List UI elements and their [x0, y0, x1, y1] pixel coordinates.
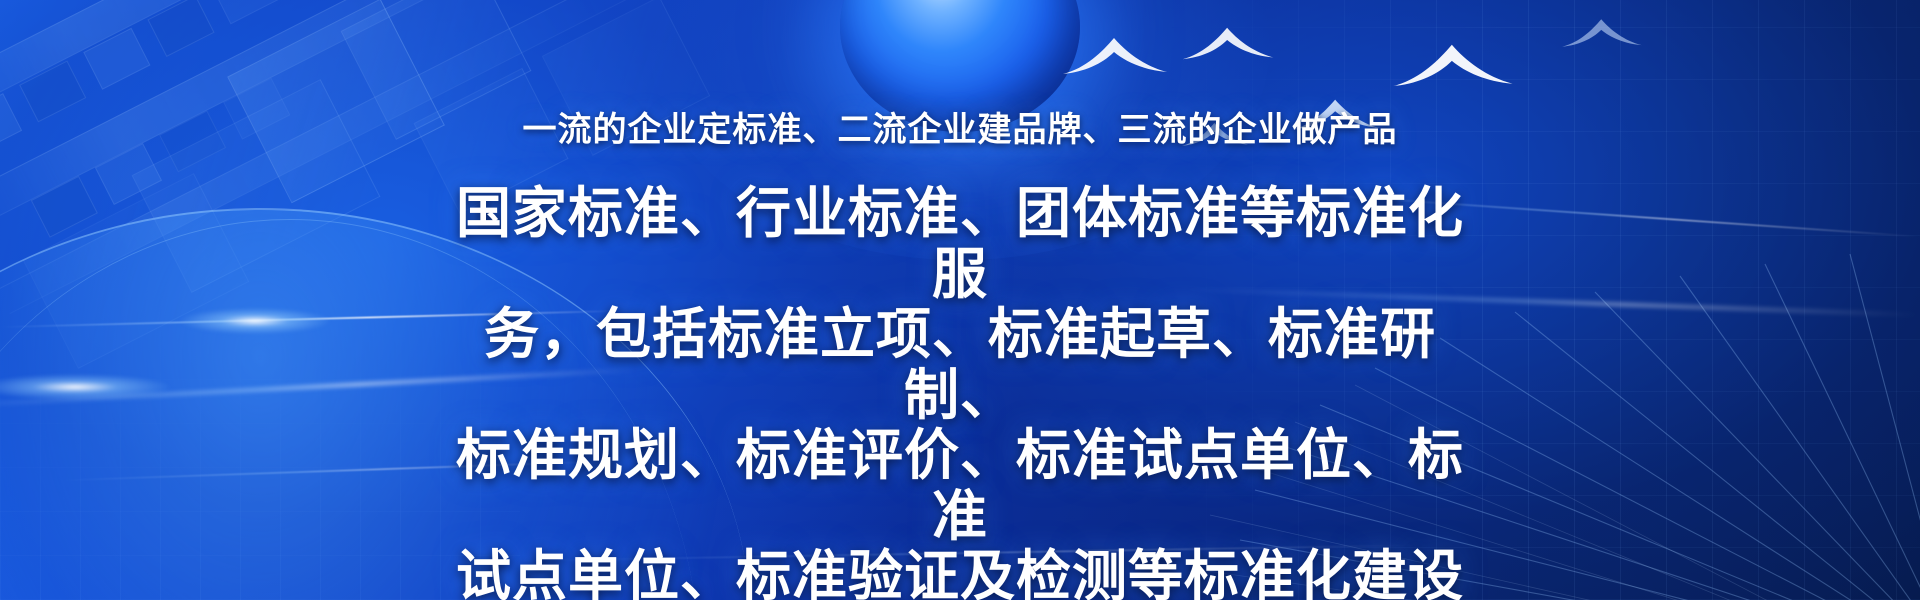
banner-headline: 国家标准、行业标准、团体标准等标准化服 务，包括标准立项、标准起草、标准研制、 … [450, 183, 1470, 600]
headline-line: 国家标准、行业标准、团体标准等标准化服 [450, 183, 1470, 304]
headline-line: 标准规划、标准评价、标准试点单位、标准 [450, 425, 1470, 546]
banner-tagline: 一流的企业定标准、二流企业建品牌、三流的企业做产品 [523, 112, 1398, 149]
standardization-services-banner: 一流的企业定标准、二流企业建品牌、三流的企业做产品 国家标准、行业标准、团体标准… [0, 0, 1920, 600]
headline-line: 试点单位、标准验证及检测等标准化建设 [450, 546, 1470, 600]
banner-content: 一流的企业定标准、二流企业建品牌、三流的企业做产品 国家标准、行业标准、团体标准… [0, 0, 1920, 600]
headline-line: 务，包括标准立项、标准起草、标准研制、 [450, 304, 1470, 425]
